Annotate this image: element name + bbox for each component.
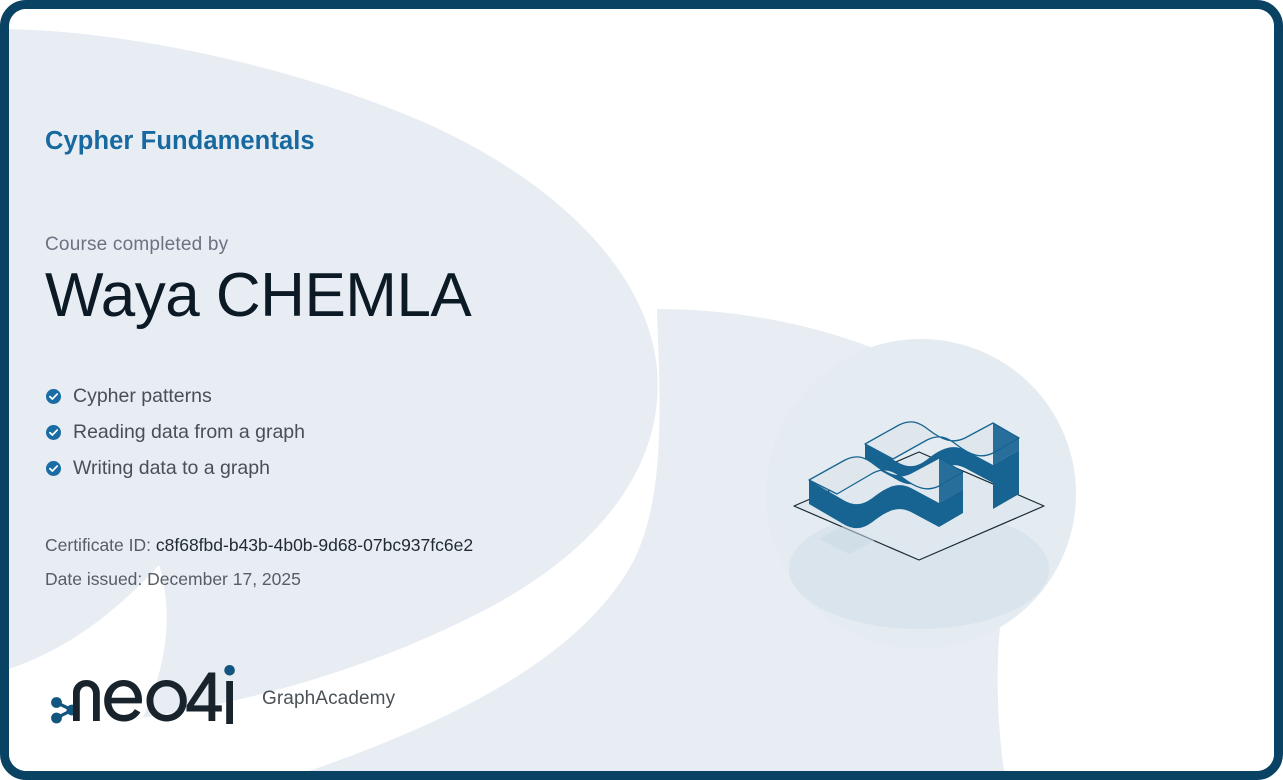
certificate-inner: Cypher Fundamentals Course completed by … xyxy=(9,9,1274,771)
brand-subtitle: GraphAcademy xyxy=(262,678,395,710)
recipient-name: Waya CHEMLA xyxy=(45,261,471,330)
certificate-id-value: c8f68fbd-b43b-4b0b-9d68-07bc937fc6e2 xyxy=(156,535,473,555)
objectives-list: Cypher patterns Reading data from a grap… xyxy=(46,378,305,486)
completed-by-label: Course completed by xyxy=(45,234,228,256)
certificate-meta: Certificate ID: c8f68fbd-b43b-4b0b-9d68-… xyxy=(45,528,473,597)
objective-label: Reading data from a graph xyxy=(73,421,305,444)
objective-item: Writing data to a graph xyxy=(46,450,305,486)
date-issued-label: Date issued: xyxy=(45,569,142,589)
neo4j-j-dot xyxy=(224,665,235,676)
objective-item: Cypher patterns xyxy=(46,378,305,414)
neo4j-logo-4j xyxy=(186,664,240,724)
date-issued-row: Date issued: December 17, 2025 xyxy=(45,562,473,596)
neo4j-logo xyxy=(47,664,192,724)
certificate-content: Cypher Fundamentals Course completed by … xyxy=(9,9,1274,771)
objective-label: Writing data to a graph xyxy=(73,457,270,480)
objective-item: Reading data from a graph xyxy=(46,414,305,450)
check-circle-icon xyxy=(46,461,61,476)
certificate-id-label: Certificate ID: xyxy=(45,535,151,555)
brand-footer: GraphAcademy xyxy=(47,664,395,724)
isometric-cypher-blocks-illustration xyxy=(749,334,1089,659)
check-circle-icon xyxy=(46,389,61,404)
course-title: Cypher Fundamentals xyxy=(45,127,315,156)
date-issued-value: December 17, 2025 xyxy=(147,569,301,589)
objective-label: Cypher patterns xyxy=(73,385,212,408)
certificate-id-row: Certificate ID: c8f68fbd-b43b-4b0b-9d68-… xyxy=(45,528,473,562)
certificate-card: Cypher Fundamentals Course completed by … xyxy=(0,0,1283,780)
neo4j-wordmark xyxy=(73,680,187,722)
check-circle-icon xyxy=(46,425,61,440)
